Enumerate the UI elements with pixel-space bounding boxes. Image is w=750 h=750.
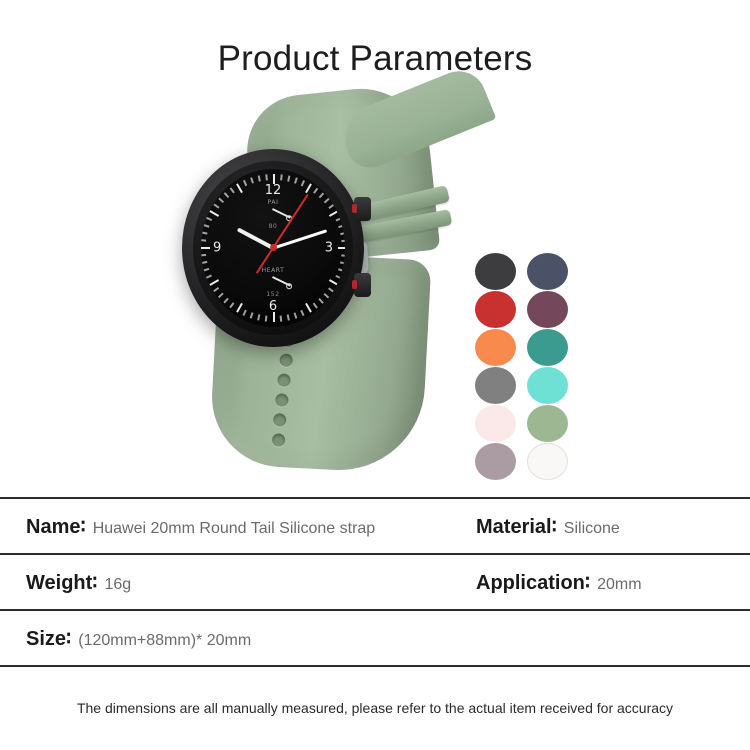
page-title: Product Parameters <box>0 0 750 79</box>
color-options-grid[interactable] <box>475 253 575 481</box>
smartwatch-product-image: 12 3 6 9 PAI 80 HEART 152 <box>178 87 498 487</box>
dial-tick <box>224 298 229 303</box>
color-swatch-teal[interactable] <box>527 329 568 366</box>
dial-tick <box>213 287 219 292</box>
subdial-pai-label: PAI <box>268 199 279 206</box>
dial-tick <box>341 239 345 241</box>
dial-tick <box>201 261 207 264</box>
subdial-heart-needle <box>273 276 292 286</box>
dial-numeral-9: 9 <box>213 240 221 255</box>
spec-value: Silicone <box>564 520 620 538</box>
dial-tick <box>280 315 282 321</box>
dial-tick <box>328 287 334 292</box>
spec-value: Huawei 20mm Round Tail Silicone strap <box>93 520 376 538</box>
subdial-heart-label: HEART <box>262 267 285 274</box>
dial-numeral-12: 12 <box>265 183 282 198</box>
dial-tick <box>218 197 223 202</box>
dial-tick <box>280 174 282 180</box>
spec-value: 16g <box>105 576 132 594</box>
dial-tick <box>336 274 342 278</box>
spec-material: Material∶ Silicone <box>476 514 620 539</box>
dial-tick <box>243 180 247 186</box>
color-swatch-off-white[interactable] <box>527 443 568 480</box>
dial-tick <box>201 239 206 241</box>
strap-hole <box>271 432 286 447</box>
dial-tick <box>287 314 290 320</box>
dial-tick <box>218 292 223 297</box>
spec-label: Weight∶ <box>26 570 98 595</box>
dial-tick <box>319 192 324 197</box>
strap-hole <box>279 352 294 367</box>
strap-hole <box>275 392 290 407</box>
dial-tick <box>250 177 253 183</box>
spec-label: Size∶ <box>26 626 71 651</box>
color-swatch-red[interactable] <box>475 291 516 328</box>
dial-tick <box>265 315 267 321</box>
strap-hole <box>273 412 288 427</box>
spec-name: Name∶ Huawei 20mm Round Tail Silicone st… <box>26 514 476 539</box>
dial-tick <box>236 183 243 193</box>
dial-tick <box>338 224 344 227</box>
product-image-area: 12 3 6 9 PAI 80 HEART 152 <box>0 87 750 487</box>
spec-label: Name∶ <box>26 514 86 539</box>
dial-tick <box>328 203 334 208</box>
table-row: Name∶ Huawei 20mm Round Tail Silicone st… <box>0 499 750 555</box>
spec-label: Material∶ <box>476 514 557 539</box>
dial-tick <box>230 187 235 193</box>
dial-tick <box>287 175 290 181</box>
dial-tick <box>206 274 212 278</box>
watch-case: 12 3 6 9 PAI 80 HEART 152 <box>182 149 364 347</box>
spec-value: 20mm <box>597 576 641 594</box>
dial-tick <box>209 279 219 286</box>
dial-tick <box>294 312 297 318</box>
dial-tick <box>236 302 243 312</box>
spec-size: Size∶ (120mm+88mm)* 20mm <box>26 626 476 651</box>
dial-numeral-6: 6 <box>269 299 277 314</box>
dial-tick <box>341 254 345 256</box>
color-swatch-sage-green[interactable] <box>527 405 568 442</box>
spec-value: (120mm+88mm)* 20mm <box>78 632 251 650</box>
dial-tick <box>336 217 342 221</box>
dial-tick <box>301 309 305 315</box>
dial-tick <box>305 183 312 193</box>
color-swatch-gray[interactable] <box>475 367 516 404</box>
dial-tick <box>305 302 312 312</box>
color-swatch-mint[interactable] <box>527 367 568 404</box>
minute-hand <box>273 229 327 249</box>
dial-tick <box>201 231 207 234</box>
table-row: Weight∶ 16g Application∶ 20mm <box>0 555 750 611</box>
color-swatch-mauve-taupe[interactable] <box>475 443 516 480</box>
dial-tick <box>319 298 324 303</box>
crown-button-top <box>354 197 371 221</box>
dial-tick <box>313 302 318 308</box>
dial-tick <box>224 192 229 197</box>
color-swatch-pale-pink[interactable] <box>475 405 516 442</box>
dial-tick <box>209 210 219 217</box>
dial-numeral-3: 3 <box>325 240 333 255</box>
dial-tick <box>301 180 305 186</box>
subdial-pai-value: 80 <box>268 223 279 230</box>
dial-tick <box>258 314 261 320</box>
color-swatch-orange[interactable] <box>475 329 516 366</box>
dial-tick <box>265 174 267 180</box>
dial-tick <box>206 217 212 221</box>
dial-tick <box>338 268 344 271</box>
subdial-pai-needle <box>273 208 292 218</box>
dial-tick <box>324 197 329 202</box>
measurement-disclaimer: The dimensions are all manually measured… <box>0 700 750 716</box>
color-swatch-charcoal-black[interactable] <box>475 253 516 290</box>
spec-label: Application∶ <box>476 570 590 595</box>
dial-tick <box>340 231 345 234</box>
dial-tick <box>203 224 209 227</box>
color-swatch-slate-blue[interactable] <box>527 253 568 290</box>
dial-tick <box>201 254 206 256</box>
dial-tick <box>201 247 210 249</box>
subdial-pai: PAI 80 <box>268 199 279 230</box>
spec-weight: Weight∶ 16g <box>26 570 476 595</box>
dial-tick <box>313 187 318 193</box>
dial-tick <box>203 268 209 271</box>
dial-tick <box>294 177 297 183</box>
hour-hand <box>237 227 274 249</box>
dial-tick <box>329 279 339 286</box>
watch-bezel: 12 3 6 9 PAI 80 HEART 152 <box>193 161 353 335</box>
crown-button-bottom <box>354 273 371 297</box>
subdial-heart-value: 152 <box>262 291 285 298</box>
dial-tick <box>213 203 219 208</box>
watch-dial: 12 3 6 9 PAI 80 HEART 152 <box>201 169 345 327</box>
dial-tick <box>230 302 235 308</box>
dial-tick <box>258 175 261 181</box>
dial-tick <box>324 292 329 297</box>
color-swatch-plum[interactable] <box>527 291 568 328</box>
dial-tick <box>329 210 339 217</box>
hands-pivot <box>270 244 277 251</box>
dial-tick <box>340 261 345 264</box>
table-row: Size∶ (120mm+88mm)* 20mm <box>0 611 750 667</box>
dial-tick <box>243 309 247 315</box>
subdial-heart: HEART 152 <box>262 267 285 298</box>
product-spec-table: Name∶ Huawei 20mm Round Tail Silicone st… <box>0 497 750 667</box>
dial-tick <box>250 312 253 318</box>
strap-hole <box>277 372 292 387</box>
dial-tick <box>338 247 345 249</box>
spec-application: Application∶ 20mm <box>476 570 642 595</box>
strap-upper-tip <box>335 62 497 174</box>
